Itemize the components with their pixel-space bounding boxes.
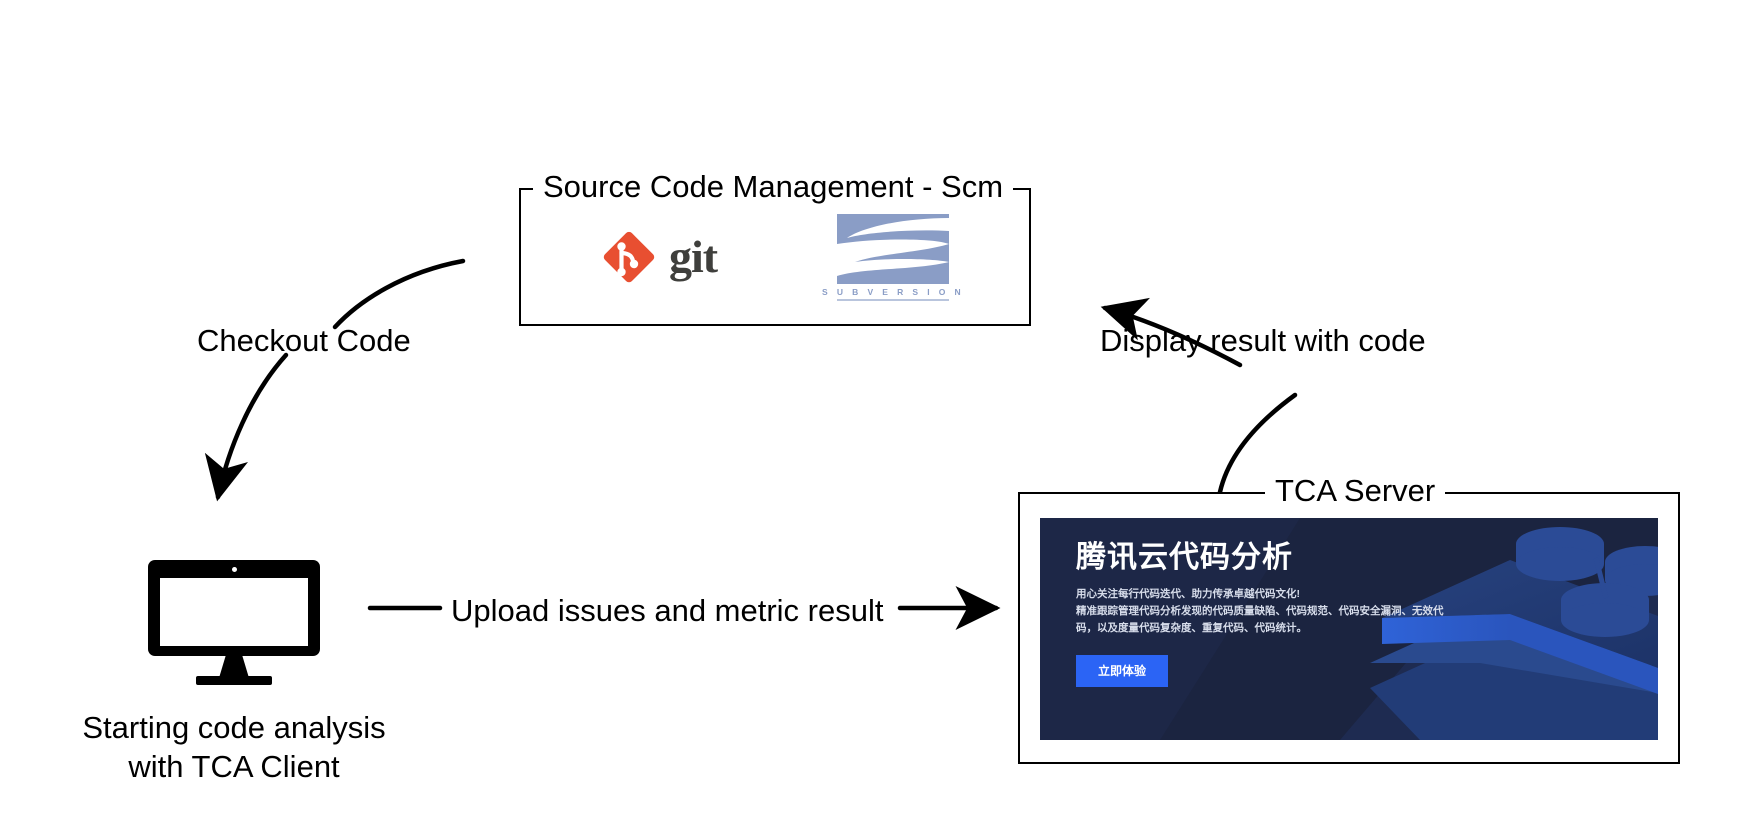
monitor-camera-dot xyxy=(232,567,237,572)
subversion-underline xyxy=(837,299,949,301)
git-icon xyxy=(601,229,657,285)
banner-paragraph-line2: 精准跟踪管理代码分析发现的代码质量缺陷、代码规范、代码安全漏洞、无效代 xyxy=(1076,603,1444,620)
banner-copy: 腾讯云代码分析 用心关注每行代码迭代、助力传承卓越代码文化! 精准跟踪管理代码分… xyxy=(1076,540,1444,687)
monitor-stand-neck xyxy=(219,656,249,678)
try-now-button[interactable]: 立即体验 xyxy=(1076,655,1168,687)
subversion-wordmark: S U B V E R S I O N xyxy=(822,287,964,297)
subversion-logo: S U B V E R S I O N xyxy=(837,214,949,301)
edge-label-checkout-code: Checkout Code xyxy=(197,322,411,360)
tca-banner: 腾讯云代码分析 用心关注每行代码迭代、助力传承卓越代码文化! 精准跟踪管理代码分… xyxy=(1040,518,1658,740)
scm-panel-title: Source Code Management - Scm xyxy=(533,168,1013,206)
monitor-stand-base xyxy=(196,676,272,685)
git-mark-svg xyxy=(601,229,657,285)
monitor-screen xyxy=(160,578,308,646)
git-wordmark: git xyxy=(669,234,717,280)
banner-paragraph-line1: 用心关注每行代码迭代、助力传承卓越代码文化! xyxy=(1076,586,1444,603)
scm-panel: git S U B V xyxy=(519,188,1031,326)
banner-paragraph-line3: 码，以及度量代码复杂度、重复代码、代码统计。 xyxy=(1076,620,1444,637)
edge-label-display-result: Display result with code xyxy=(1100,322,1426,360)
tca-client-monitor-icon xyxy=(148,560,320,670)
monitor-body xyxy=(148,560,320,656)
tca-client-caption: Starting code analysis with TCA Client xyxy=(72,708,396,786)
tca-client-caption-line2: with TCA Client xyxy=(72,747,396,786)
subversion-mark-svg xyxy=(837,214,949,284)
git-logo: git xyxy=(601,229,717,285)
diagram-canvas: git S U B V xyxy=(0,0,1744,830)
edge-checkout-code xyxy=(218,261,463,497)
subversion-icon xyxy=(837,214,949,284)
edge-label-upload-result: Upload issues and metric result xyxy=(443,592,891,630)
tca-server-title: TCA Server xyxy=(1265,472,1445,510)
banner-heading: 腾讯云代码分析 xyxy=(1076,540,1444,576)
tca-client-caption-line1: Starting code analysis xyxy=(72,708,396,747)
